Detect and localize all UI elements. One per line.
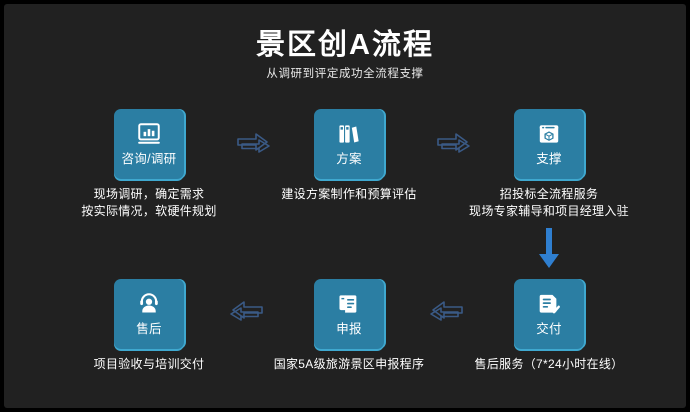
slide-canvas: 景区创A流程 从调研到评定成功全流程支撑 咨询/调研 现场调研，确定需求 按实际… — [4, 4, 686, 408]
arrow-right-2-icon — [436, 131, 476, 157]
caption-line: 现场专家辅导和项目经理入驻 — [449, 203, 649, 220]
flow-step-card-3[interactable]: 支撑 — [514, 109, 584, 179]
flow-step-card-2[interactable]: 方案 — [314, 109, 384, 179]
flow-step-caption-1: 现场调研，确定需求 按实际情况，软硬件规划 — [49, 186, 249, 220]
books-icon — [336, 121, 362, 147]
flow-step-label: 方案 — [336, 152, 362, 167]
flow-step-label: 咨询/调研 — [122, 152, 177, 167]
flow-step-caption-4: 售后服务（7*24小时在线） — [449, 356, 649, 373]
flow-step-label: 申报 — [336, 322, 362, 337]
caption-line: 国家5A级旅游景区申报程序 — [249, 356, 449, 373]
flow-step-caption-5: 国家5A级旅游景区申报程序 — [249, 356, 449, 373]
flow-step-card-1[interactable]: 咨询/调研 — [114, 109, 184, 179]
caption-line: 项目验收与培训交付 — [49, 356, 249, 373]
caption-line: 现场调研，确定需求 — [49, 186, 249, 203]
arrow-left-1-icon — [424, 299, 464, 325]
flow-step-caption-6: 项目验收与培训交付 — [49, 356, 249, 373]
caption-line: 招投标全流程服务 — [449, 186, 649, 203]
flow-step-label: 支撑 — [536, 152, 562, 167]
caption-line: 售后服务（7*24小时在线） — [449, 356, 649, 373]
flow-step-card-6[interactable]: 售后 — [114, 279, 184, 349]
flow-step-label: 交付 — [536, 322, 562, 337]
document-check-icon — [536, 291, 562, 317]
arrow-down-icon — [532, 226, 566, 272]
documents-icon — [336, 291, 362, 317]
window-box-icon — [536, 121, 562, 147]
headset-support-icon — [136, 291, 162, 317]
arrow-right-1-icon — [236, 131, 276, 157]
caption-line: 按实际情况，软硬件规划 — [49, 203, 249, 220]
arrow-left-2-icon — [224, 299, 264, 325]
flow-step-card-5[interactable]: 申报 — [314, 279, 384, 349]
flow-step-caption-2: 建设方案制作和预算评估 — [249, 186, 449, 203]
flow-step-card-4[interactable]: 交付 — [514, 279, 584, 349]
caption-line: 建设方案制作和预算评估 — [249, 186, 449, 203]
header: 景区创A流程 从调研到评定成功全流程支撑 — [4, 28, 686, 81]
page-subtitle: 从调研到评定成功全流程支撑 — [4, 67, 686, 81]
flow-step-caption-3: 招投标全流程服务 现场专家辅导和项目经理入驻 — [449, 186, 649, 220]
bar-chart-icon — [136, 121, 162, 147]
page-title: 景区创A流程 — [4, 28, 686, 62]
flow-step-label: 售后 — [136, 322, 162, 337]
